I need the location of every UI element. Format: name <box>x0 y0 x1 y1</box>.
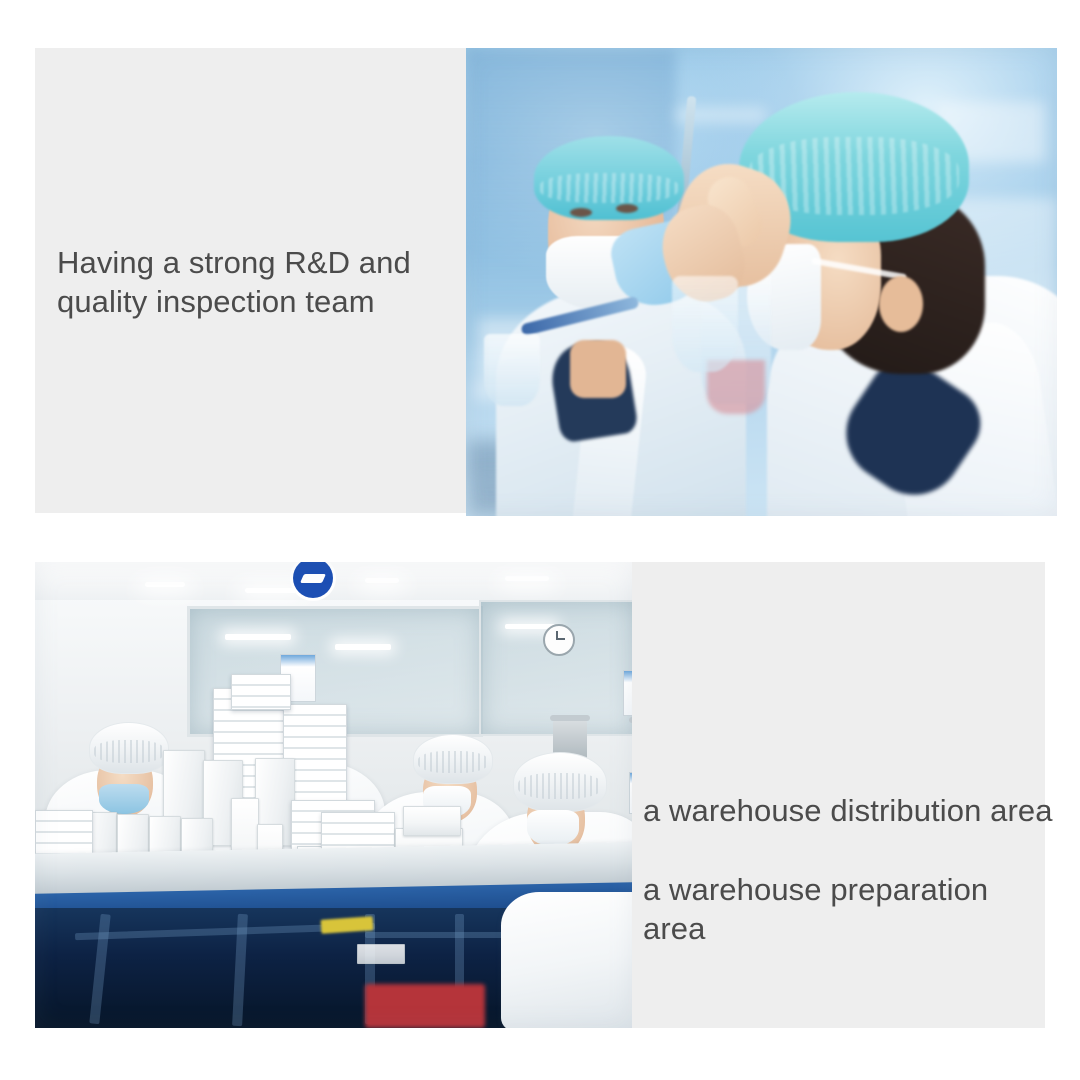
carton-flat-2 <box>403 806 461 836</box>
ceiling-light-4 <box>505 576 549 581</box>
ceiling-light-3 <box>365 578 399 583</box>
lab-worker-a-eye-right <box>616 204 638 213</box>
warehouse-worker-4-hair-net <box>513 752 607 812</box>
lab-worker-a-eye-left <box>570 208 592 217</box>
warehouse-area-caption: a warehouse distribution area a warehous… <box>643 752 1053 949</box>
warehouse-worker-1-mask <box>99 784 149 814</box>
under-table-carton <box>357 944 405 964</box>
laboratory-photo <box>466 48 1057 516</box>
carton-stack-back-3 <box>231 674 291 710</box>
warehouse-worker-4-coat-lower <box>501 892 632 1028</box>
warehouse-worker-4-mask <box>527 810 579 846</box>
rd-quality-caption: Having a strong R&D and quality inspecti… <box>57 243 457 322</box>
window-light-2 <box>335 644 391 650</box>
lab-worker-b-ear <box>879 276 923 332</box>
page-canvas: Having a strong R&D and quality inspecti… <box>0 0 1080 1080</box>
warehouse-worker-1-hair-net <box>89 722 169 774</box>
lab-worker-a-hair-net <box>534 136 684 220</box>
wall-notice-2 <box>623 670 632 716</box>
lab-small-flask <box>484 334 540 406</box>
ceiling-light-1 <box>145 582 185 587</box>
window-light-1 <box>225 634 291 640</box>
warehouse-caption-line-2: a warehouse preparation area <box>643 872 988 946</box>
warehouse-ceiling <box>35 562 632 600</box>
red-floor-object <box>365 984 485 1028</box>
warehouse-photo <box>35 562 632 1028</box>
wall-clock <box>543 624 575 656</box>
warehouse-caption-line-1: a warehouse distribution area <box>643 793 1053 828</box>
lab-worker-a-neck <box>570 340 626 398</box>
warehouse-worker-3-hair-net <box>413 734 493 784</box>
ceiling-light-2 <box>245 588 297 593</box>
lab-flask <box>672 276 738 372</box>
